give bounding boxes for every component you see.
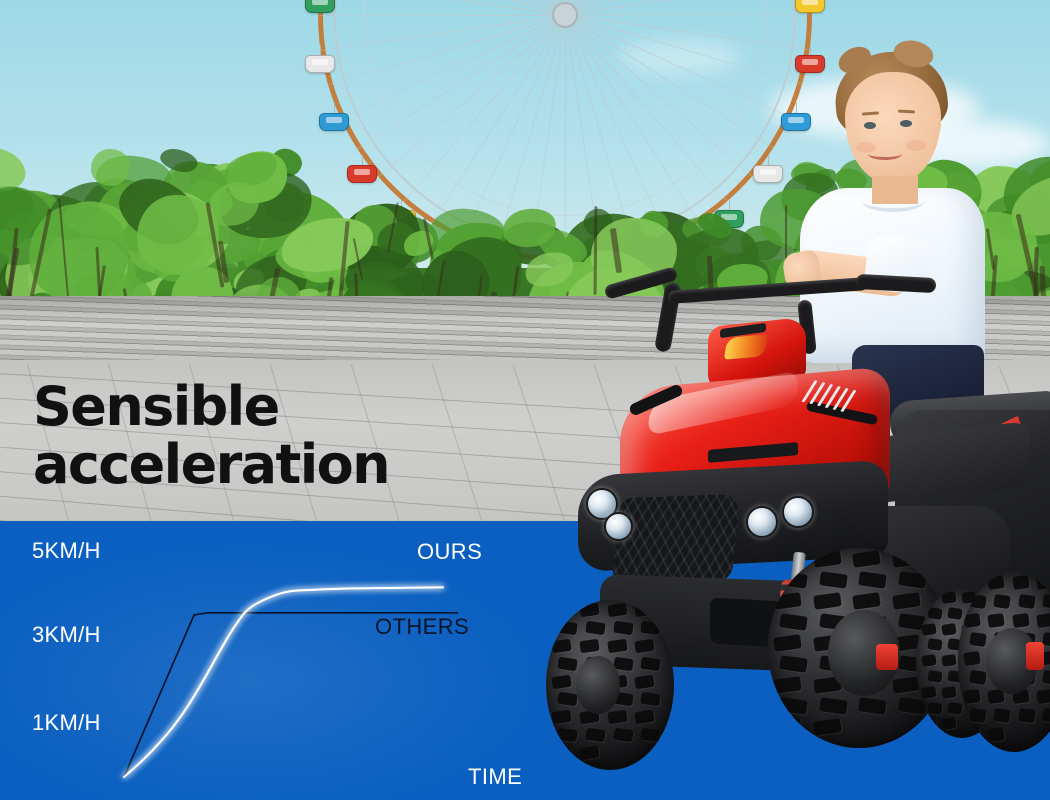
tyre-tread-block [988, 613, 1006, 628]
tyre-tread-block [551, 674, 571, 689]
tyre-tread-block [941, 623, 956, 635]
tyre-tread-block [779, 613, 807, 631]
tyre-tread-block [557, 692, 577, 707]
child-eye [864, 122, 876, 129]
headlight [782, 496, 814, 528]
tyre-tread-block [898, 571, 926, 589]
tyre-tread-block [613, 728, 633, 743]
tyre-tread-block [557, 656, 577, 671]
tyre-tread-block [969, 708, 987, 723]
tyre-tread-block [641, 621, 661, 636]
tyre-tread-block [1042, 670, 1050, 685]
tyre-tread-block [773, 677, 801, 695]
wheel-hub-cap-red [876, 644, 898, 670]
tyre-tread-block [635, 639, 655, 654]
tyre-tread-block [927, 638, 942, 650]
child-mouth [868, 148, 902, 160]
tyre-tread-block [635, 710, 655, 725]
tyre-tread-block [1012, 575, 1030, 590]
tyre-tread-block [921, 623, 936, 635]
child-face [845, 72, 941, 184]
tyre-tread-block [813, 719, 841, 737]
tyre-tread-block [921, 654, 936, 666]
tyre-tread-block [852, 592, 880, 610]
tyre-tread-block [579, 746, 599, 761]
tyre-tread-block [1036, 689, 1050, 704]
tyre-tread-block [551, 746, 571, 761]
tyre-tread-block [969, 670, 987, 685]
tyre-tread-block [921, 591, 936, 603]
wheel-hub [576, 656, 620, 714]
tyre-tread-block [1018, 708, 1036, 723]
wheel-front-left [546, 600, 674, 770]
tyre-tread-block [947, 607, 962, 619]
tyre-tread-block [947, 702, 962, 714]
tyre-tread-block [779, 698, 807, 716]
tyre-tread-block [927, 670, 942, 682]
tyre-tread-block [585, 728, 605, 743]
tyre-tread-block [921, 717, 936, 729]
tyre-tread-block [988, 575, 1006, 590]
tyre-tread-block [579, 639, 599, 654]
tyre-tread-block [941, 591, 956, 603]
tyre-tread-block [773, 719, 801, 737]
tyre-tread-block [607, 603, 627, 618]
headlight [746, 506, 778, 538]
child-eye [900, 120, 912, 127]
tyre-tread-block [607, 710, 627, 725]
wheel-hub-cap-red [1026, 642, 1044, 670]
tyre-tread-block [773, 592, 801, 610]
tyre-tread-block [1042, 708, 1050, 723]
product-banner: Sensible acceleration [0, 0, 1050, 800]
tyre-tread-block [635, 674, 655, 689]
tyre-tread-block [994, 708, 1012, 723]
tyre-tread-block [1036, 575, 1050, 590]
tyre-tread-block [858, 571, 886, 589]
tyre-tread-block [819, 571, 847, 589]
tyre-tread-block [579, 603, 599, 618]
tyre-tread-block [551, 639, 571, 654]
tyre-tread-block [969, 594, 987, 609]
tyre-tread-block [994, 594, 1012, 609]
tyre-tread-block [892, 592, 920, 610]
tyre-tread-block [892, 677, 920, 695]
tyre-tread-block [963, 575, 981, 590]
tyre-tread-block [557, 728, 577, 743]
tyre-tread-block [927, 702, 942, 714]
tyre-tread-block [551, 710, 571, 725]
tyre-tread-block [852, 550, 880, 568]
tyre-tread-block [641, 692, 661, 707]
tyre-tread-block [607, 639, 627, 654]
tyre-tread-block [813, 592, 841, 610]
tyre-tread-block [1012, 613, 1030, 628]
child-rider: DF-38 [0, 0, 1050, 800]
tyre-tread-block [927, 607, 942, 619]
tyre-tread-block [1036, 613, 1050, 628]
tyre-tread-block [773, 634, 801, 652]
tyre-tread-block [963, 689, 981, 704]
tyre-tread-block [1018, 594, 1036, 609]
headlight [604, 512, 633, 541]
tyre-tread-block [963, 651, 981, 666]
tyre-tread-block [1042, 594, 1050, 609]
child-cheek [906, 140, 926, 151]
tyre-tread-block [557, 621, 577, 636]
tyre-tread-block [941, 686, 956, 698]
tyre-tread-block [858, 698, 886, 716]
tyre-tread-block [779, 655, 807, 673]
tyre-tread-block [551, 603, 571, 618]
atv-quad-bike: DF-38 [560, 300, 1050, 800]
tyre-tread-block [941, 717, 956, 729]
tyre-tread-block [613, 621, 633, 636]
tyre-tread-block [963, 726, 981, 741]
child-shirt-collar [862, 190, 924, 212]
atv-front-grille [611, 494, 740, 586]
tyre-tread-block [641, 656, 661, 671]
tyre-tread-block [988, 726, 1006, 741]
tyre-tread-block [941, 654, 956, 666]
tyre-tread-block [819, 698, 847, 716]
tyre-tread-block [969, 632, 987, 647]
tyre-tread-block [963, 613, 981, 628]
tyre-tread-block [921, 686, 936, 698]
tyre-tread-block [813, 550, 841, 568]
tyre-tread-block [641, 728, 661, 743]
tyre-tread-block [585, 621, 605, 636]
